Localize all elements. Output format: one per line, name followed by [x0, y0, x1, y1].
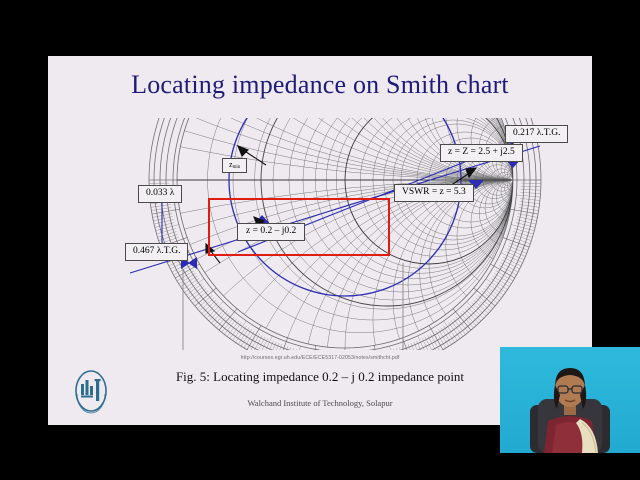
page-title: Locating impedance on Smith chart [48, 70, 592, 100]
smith-chart-figure: 0.217 λ.T.G. z = Z = 2.5 + j2.5 VSWR = z… [70, 118, 570, 350]
callout-lambda-distance: 0.033 λ [138, 185, 182, 203]
presenter-figure [500, 347, 640, 453]
callout-lambda-tg-top: 0.217 λ.T.G. [505, 125, 568, 143]
callout-load-impedance: z = Z = 2.5 + j2.5 [440, 144, 523, 162]
screen-root: Locating impedance on Smith chart [0, 0, 640, 480]
callout-z-min-subscript: min [233, 165, 241, 170]
callout-vswr: VSWR = z = 5.3 [394, 184, 474, 202]
callout-impedance-point-text: z = 0.2 – j0.2 [246, 226, 296, 236]
callout-impedance-point: z = 0.2 – j0.2 [237, 223, 305, 241]
callout-vswr-text: VSWR = z = 5.3 [402, 187, 466, 197]
callout-load-impedance-text: z = Z = 2.5 + j2.5 [448, 147, 515, 157]
presenter-video[interactable] [500, 347, 640, 453]
callout-lambda-tg-bottom: 0.467 λ.T.G. [125, 243, 188, 261]
callout-z-min: zmin [222, 158, 247, 173]
walchand-institute-logo [70, 368, 112, 414]
